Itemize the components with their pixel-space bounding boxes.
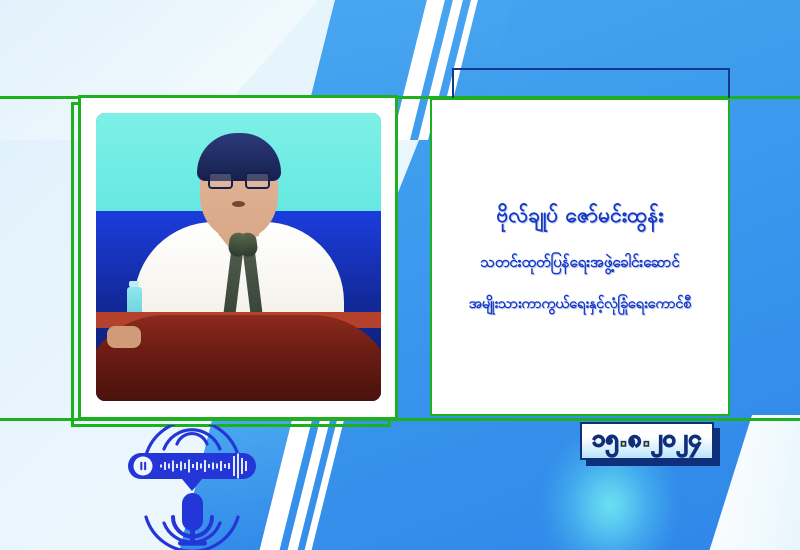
speaker-organisation: အမျိုးသားကာကွယ်ရေးနှင့်လုံခြုံရေးကောင်စီ bbox=[436, 293, 724, 315]
waveform-pill bbox=[128, 453, 256, 491]
podcast-microphone-icon bbox=[120, 425, 265, 550]
speaker-photo bbox=[96, 113, 381, 401]
speaker-name: ဗိုလ်ချုပ် ဇော်မင်းထွန်း bbox=[436, 199, 724, 232]
date-badge-label: ၁၅.၈.၂၀၂၄ bbox=[592, 424, 701, 458]
photo-water-bottle-cap bbox=[129, 281, 139, 287]
pause-button bbox=[134, 457, 153, 476]
date-badge: ၁၅.၈.၂၀၂၄ bbox=[580, 422, 714, 460]
speech-pointer bbox=[182, 479, 202, 491]
text-panel: ဗိုလ်ချုပ် ဇော်မင်းထွန်း သတင်းထုတ်ပြန်ရေ… bbox=[430, 98, 730, 416]
photo-speaker-glasses-bridge bbox=[233, 179, 245, 181]
speaker-role: သတင်းထုတ်ပြန်ရေးအဖွဲ့ခေါင်းဆောင် bbox=[436, 251, 724, 274]
broadcast-arc-core-top bbox=[177, 434, 207, 444]
banner-canvas: ဗိုလ်ချုပ် ဇော်မင်းထွန်း သတင်းထုတ်ပြန်ရေ… bbox=[0, 0, 800, 550]
photo-speaker-hand bbox=[107, 326, 141, 348]
photo-speaker-mouth bbox=[232, 201, 245, 207]
